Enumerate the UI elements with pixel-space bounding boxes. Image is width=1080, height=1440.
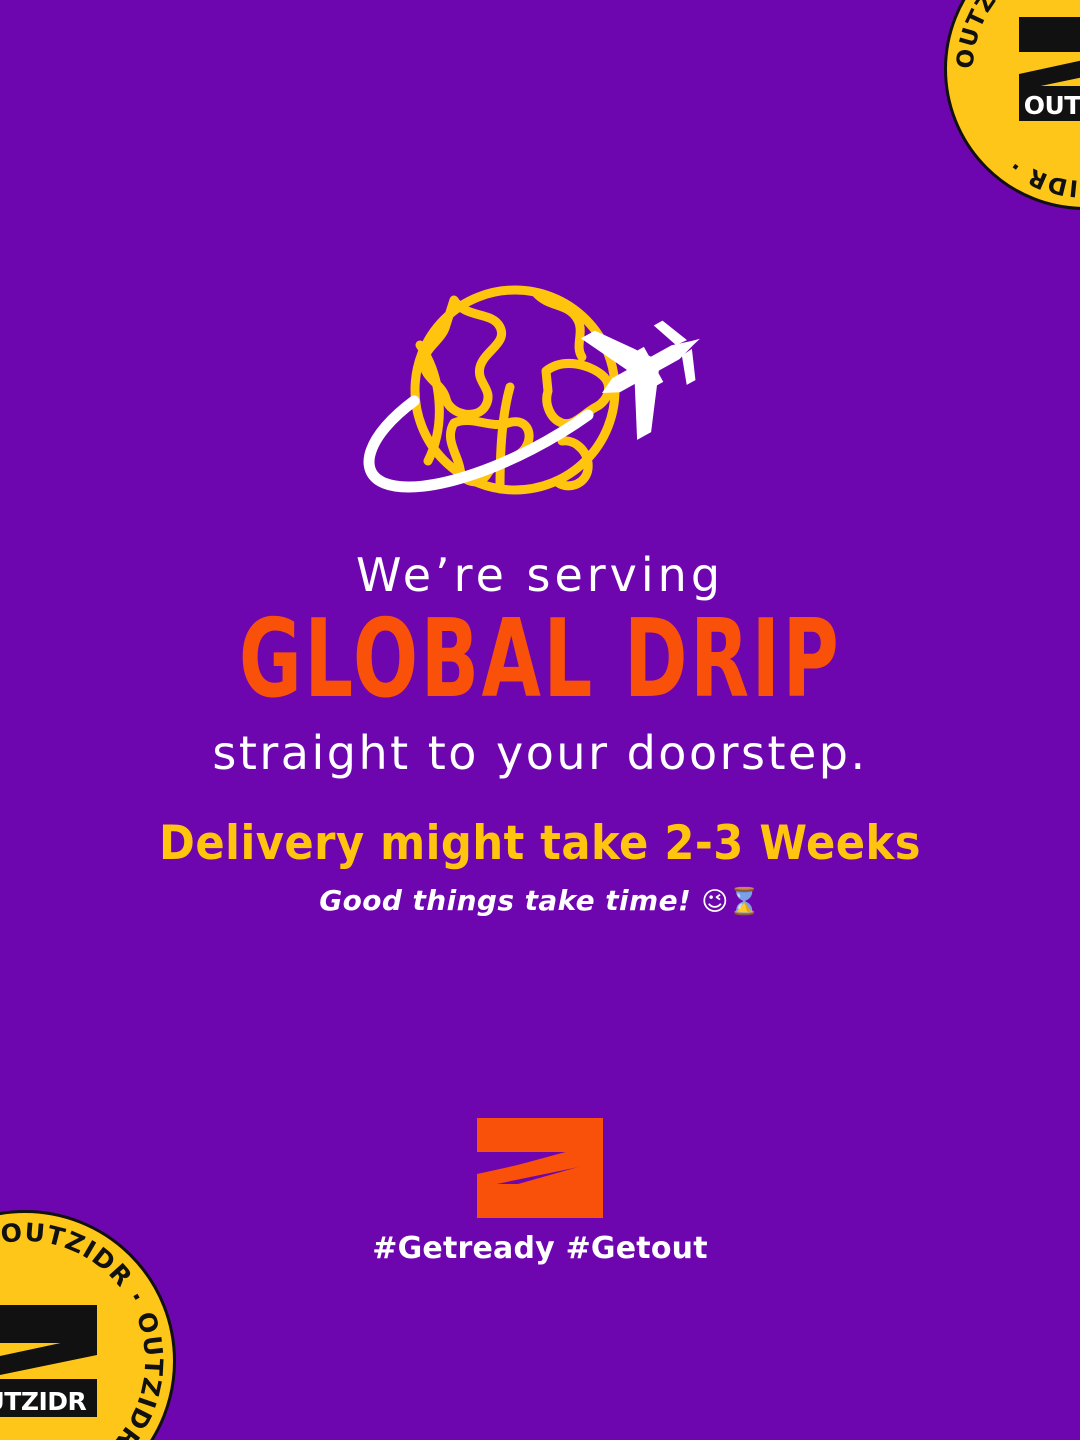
headline-line-1: We’re serving [0,548,1080,602]
outzidr-sticker-badge-top-right: OUTZIDR · OUTZIDR · OUTZIDR · OUTZIDR · … [944,0,1080,210]
headline-block: We’re serving GLOBAL DRIP straight to yo… [0,548,1080,780]
delivery-headline: Delivery might take 2-3 Weeks [43,818,1037,870]
globe-airplane-icon [350,275,730,515]
delivery-subline-text: Good things take time! [319,884,691,917]
poster-canvas: We’re serving GLOBAL DRIP straight to yo… [0,0,1080,1440]
headline-line-2: GLOBAL DRIP [108,602,972,718]
badge-z-mark-top-right: OUTZIDR [1019,17,1080,121]
z-logo-diagonal [477,1118,603,1218]
delivery-subline: Good things take time! 😉⌛ [0,886,1080,917]
wink-hourglass-emoji: 😉⌛ [701,887,760,917]
badge-center-word-tr: OUTZIDR [1024,93,1080,118]
outzidr-sticker-badge-bottom-left: OUTZIDR · OUTZIDR · OUTZIDR · OUTZIDR · … [0,1210,176,1440]
delivery-note-block: Delivery might take 2-3 Weeks Good thing… [0,818,1080,916]
headline-line-3: straight to your doorstep. [0,726,1080,780]
badge-z-mark-bottom-left: OUTZIDR [0,1305,97,1417]
badge-center-word-bl: OUTZIDR [0,1389,86,1414]
outzidr-z-logo [477,1118,603,1218]
